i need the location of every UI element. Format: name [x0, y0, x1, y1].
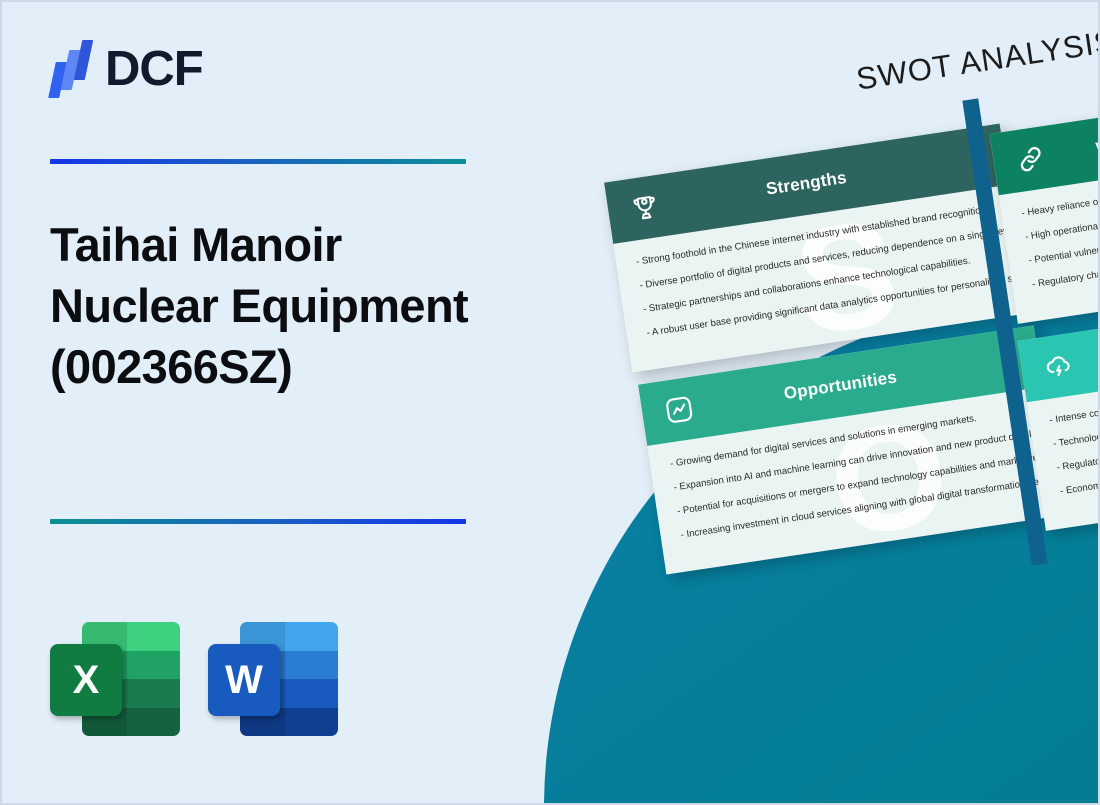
trend-chart-icon [662, 393, 696, 427]
swot-heading: SWOT ANALYSIS [854, 23, 1100, 97]
swot-card-weaknesses-header: Weaknesses [990, 88, 1100, 195]
swot-panel: SWOT ANALYSIS Strengths S [2, 2, 1100, 805]
page-root: DCF Taihai Manoir Nuclear Equipment (002… [0, 0, 1100, 805]
storm-cloud-icon [1042, 349, 1076, 383]
swot-card-opportunities[interactable]: Opportunities O - Growing demand for dig… [638, 325, 1062, 574]
trophy-icon [628, 191, 662, 225]
link-icon [1014, 142, 1048, 176]
